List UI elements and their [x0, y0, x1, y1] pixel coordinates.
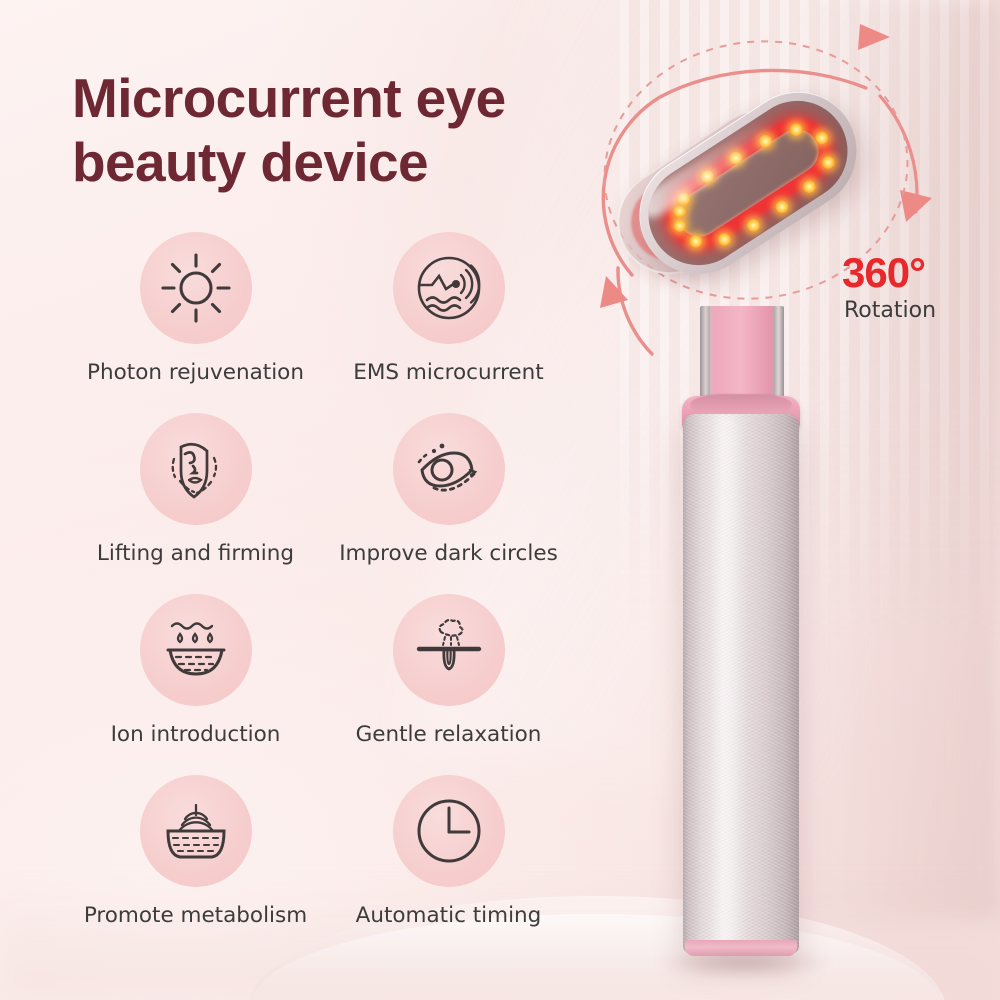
face-lift-icon	[159, 432, 233, 506]
product-hero-banner: Microcurrent eye beauty device	[0, 0, 1000, 1000]
icon-bubble	[140, 413, 252, 525]
icon-bubble	[393, 775, 505, 887]
clock-icon	[412, 794, 486, 868]
icon-bubble	[140, 232, 252, 344]
rotation-label: Rotation	[844, 298, 936, 323]
product-head-wrap	[622, 62, 872, 312]
feature-item-ion-introduction: Ion introduction	[78, 594, 313, 747]
feature-item-ems-microcurrent: EMS microcurrent	[331, 232, 566, 385]
feature-label: EMS microcurrent	[353, 360, 543, 385]
feature-label: Gentle relaxation	[356, 722, 542, 747]
page-title: Microcurrent eye beauty device	[72, 66, 632, 195]
skin-waves-icon	[158, 793, 234, 869]
feature-row: Ion introduction	[78, 594, 598, 747]
pore-steam-icon	[411, 612, 487, 688]
product-contact-shadow	[656, 948, 832, 978]
ion-absorption-icon	[158, 612, 234, 688]
feature-row: Photon rejuvenation	[78, 232, 598, 385]
handle-highlight	[709, 414, 743, 954]
feature-list: Photon rejuvenation	[78, 232, 598, 928]
feature-item-automatic-timing: Automatic timing	[331, 775, 566, 928]
feature-item-promote-metabolism: Promote metabolism	[78, 775, 313, 928]
feature-label: Improve dark circles	[339, 541, 558, 566]
icon-bubble	[393, 232, 505, 344]
eye-icon	[412, 432, 486, 506]
feature-label: Photon rejuvenation	[87, 360, 304, 385]
rotation-callout: 360° Rotation	[842, 252, 936, 323]
icon-bubble	[393, 413, 505, 525]
feature-row: Lifting and firming	[78, 413, 598, 566]
feature-item-improve-dark-circles: Improve dark circles	[331, 413, 566, 566]
icon-bubble	[393, 594, 505, 706]
product-collar-notch	[690, 394, 792, 416]
feature-label: Ion introduction	[111, 722, 281, 747]
product-image	[560, 0, 1000, 1000]
product-head	[617, 69, 879, 296]
feature-row: Promote metabolism Automatic timing	[78, 775, 598, 928]
feature-item-lifting-and-firming: Lifting and firming	[78, 413, 313, 566]
sun-icon	[159, 251, 233, 325]
icon-bubble	[140, 775, 252, 887]
feature-item-photon-rejuvenation: Photon rejuvenation	[78, 232, 313, 385]
feature-label: Automatic timing	[356, 903, 542, 928]
feature-item-gentle-relaxation: Gentle relaxation	[331, 594, 566, 747]
ems-wave-icon	[412, 251, 486, 325]
icon-bubble	[140, 594, 252, 706]
feature-label: Lifting and firming	[97, 541, 294, 566]
rotation-degrees: 360°	[842, 252, 936, 294]
feature-label: Promote metabolism	[84, 903, 307, 928]
product-handle	[683, 414, 799, 954]
